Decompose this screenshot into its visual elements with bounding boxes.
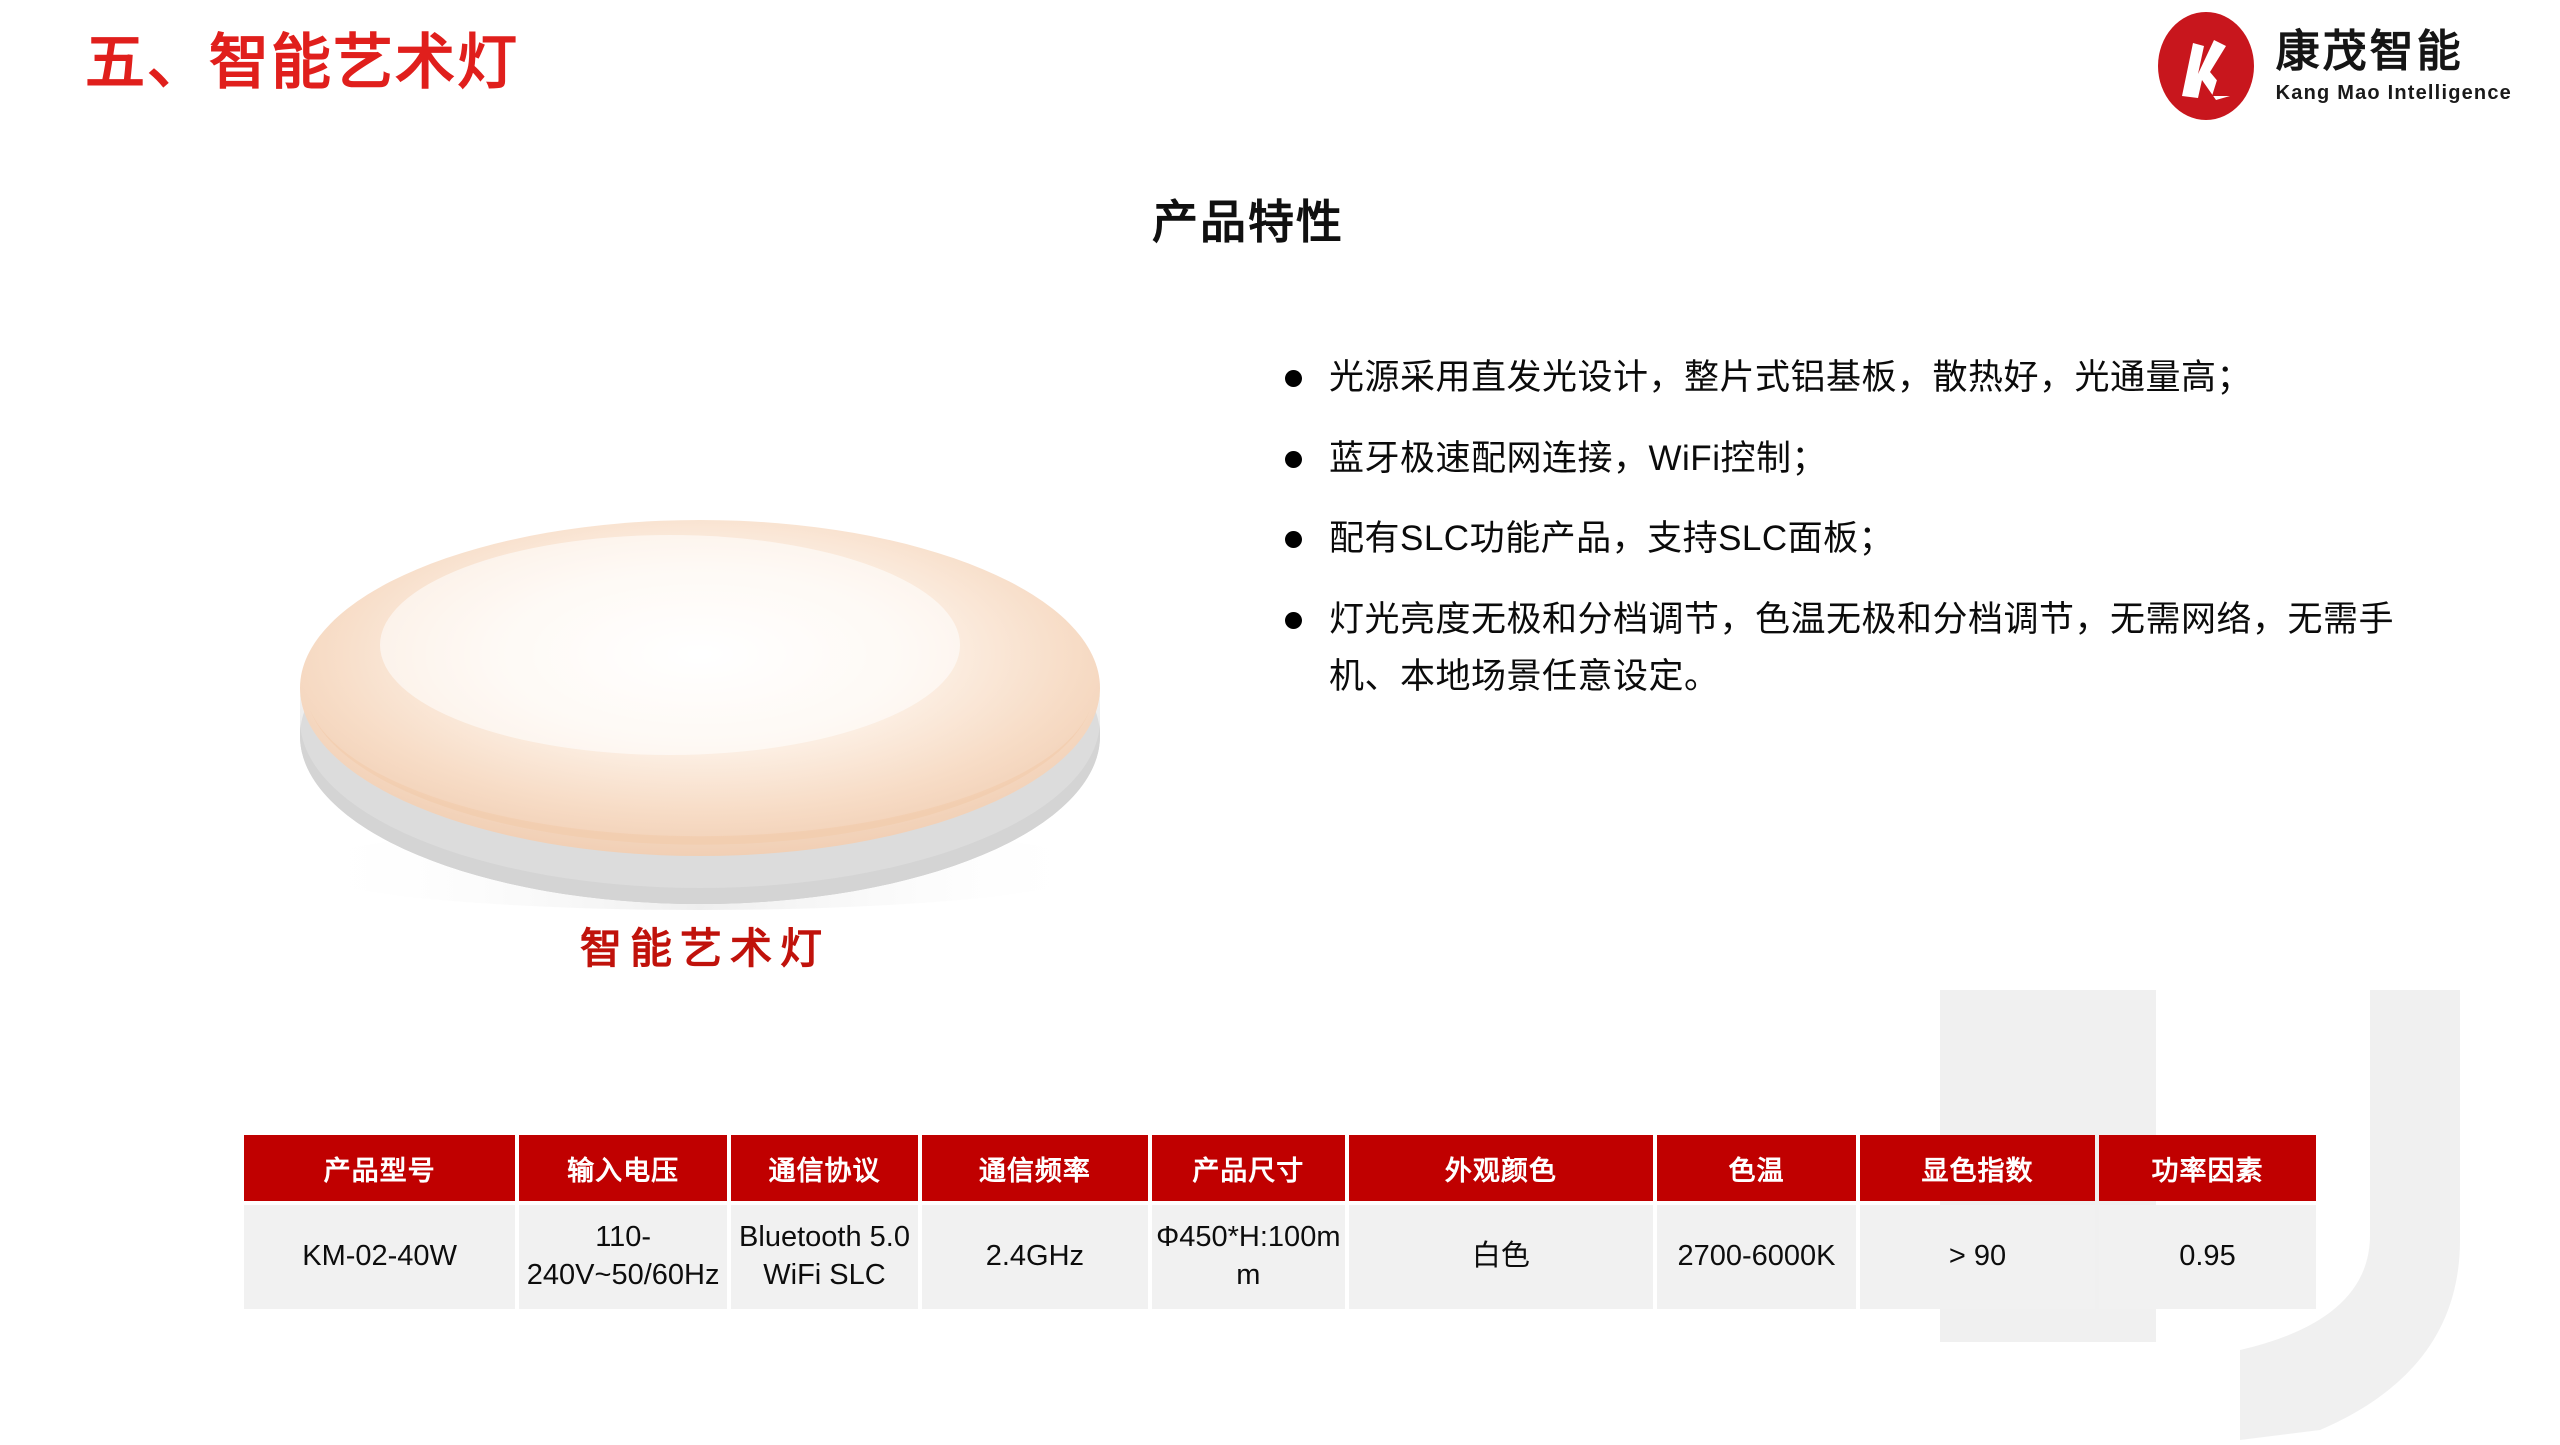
bullet-dot-icon (1285, 531, 1302, 548)
page-title: 五、智能艺术灯 (85, 14, 519, 101)
cell-cri: > 90 (1860, 1205, 2095, 1309)
logo-text-block: 康茂智能 Kang Mao Intelligence (2276, 30, 2512, 103)
cell-comm-protocol: Bluetooth 5.0 WiFi SLC (731, 1205, 918, 1309)
features-heading: 产品特性 (1152, 186, 1344, 252)
cell-comm-frequency: 2.4GHz (922, 1205, 1148, 1309)
column-header-power-factor: 功率因素 (2099, 1135, 2316, 1201)
cell-input-voltage: 110-240V~50/60Hz (519, 1205, 727, 1309)
logo-company-name-en: Kang Mao Intelligence (2276, 83, 2512, 103)
logo-mark-icon (2152, 10, 2260, 122)
column-header-product-size: 产品尺寸 (1152, 1135, 1345, 1201)
cell-product-size: Φ450*H:100mm (1152, 1205, 1345, 1309)
product-caption: 智能艺术灯 (200, 915, 1210, 976)
feature-text: 蓝牙极速配网连接，WiFi控制； (1329, 431, 1827, 488)
specification-table: 产品型号 输入电压 通信协议 通信频率 产品尺寸 外观颜色 色温 显色指数 功率… (240, 1131, 2320, 1313)
bullet-dot-icon (1285, 370, 1302, 387)
feature-text: 灯光亮度无极和分档调节，色温无极和分档调节，无需网络，无需手机、本地场景任意设定… (1329, 592, 2445, 705)
cell-power-factor: 0.95 (2099, 1205, 2316, 1309)
table-header-row: 产品型号 输入电压 通信协议 通信频率 产品尺寸 外观颜色 色温 显色指数 功率… (244, 1135, 2316, 1201)
feature-text: 配有SLC功能产品，支持SLC面板； (1329, 511, 1894, 568)
feature-text: 光源采用直发光设计，整片式铝基板，散热好，光通量高； (1329, 350, 2252, 407)
cell-appearance-color: 白色 (1349, 1205, 1653, 1309)
feature-item: 光源采用直发光设计，整片式铝基板，散热好，光通量高； (1285, 350, 2445, 407)
column-header-comm-protocol: 通信协议 (731, 1135, 918, 1201)
feature-item: 配有SLC功能产品，支持SLC面板； (1285, 511, 2445, 568)
feature-item: 蓝牙极速配网连接，WiFi控制； (1285, 431, 2445, 488)
bullet-dot-icon (1285, 451, 1302, 468)
product-image (200, 420, 1210, 960)
logo-company-name-cn: 康茂智能 (2276, 30, 2512, 74)
column-header-comm-frequency: 通信频率 (922, 1135, 1148, 1201)
cell-color-temperature: 2700-6000K (1657, 1205, 1856, 1309)
ceiling-lamp-illustration (200, 420, 1210, 960)
cell-product-model: KM-02-40W (244, 1205, 515, 1309)
column-header-appearance-color: 外观颜色 (1349, 1135, 1653, 1201)
feature-item: 灯光亮度无极和分档调节，色温无极和分档调节，无需网络，无需手机、本地场景任意设定… (1285, 592, 2445, 705)
column-header-product-model: 产品型号 (244, 1135, 515, 1201)
column-header-color-temperature: 色温 (1657, 1135, 1856, 1201)
brand-logo: 康茂智能 Kang Mao Intelligence (2152, 10, 2512, 122)
bullet-dot-icon (1285, 612, 1302, 629)
column-header-cri: 显色指数 (1860, 1135, 2095, 1201)
table-row: KM-02-40W 110-240V~50/60Hz Bluetooth 5.0… (244, 1205, 2316, 1309)
features-list: 光源采用直发光设计，整片式铝基板，散热好，光通量高； 蓝牙极速配网连接，WiFi… (1285, 350, 2445, 729)
column-header-input-voltage: 输入电压 (519, 1135, 727, 1201)
